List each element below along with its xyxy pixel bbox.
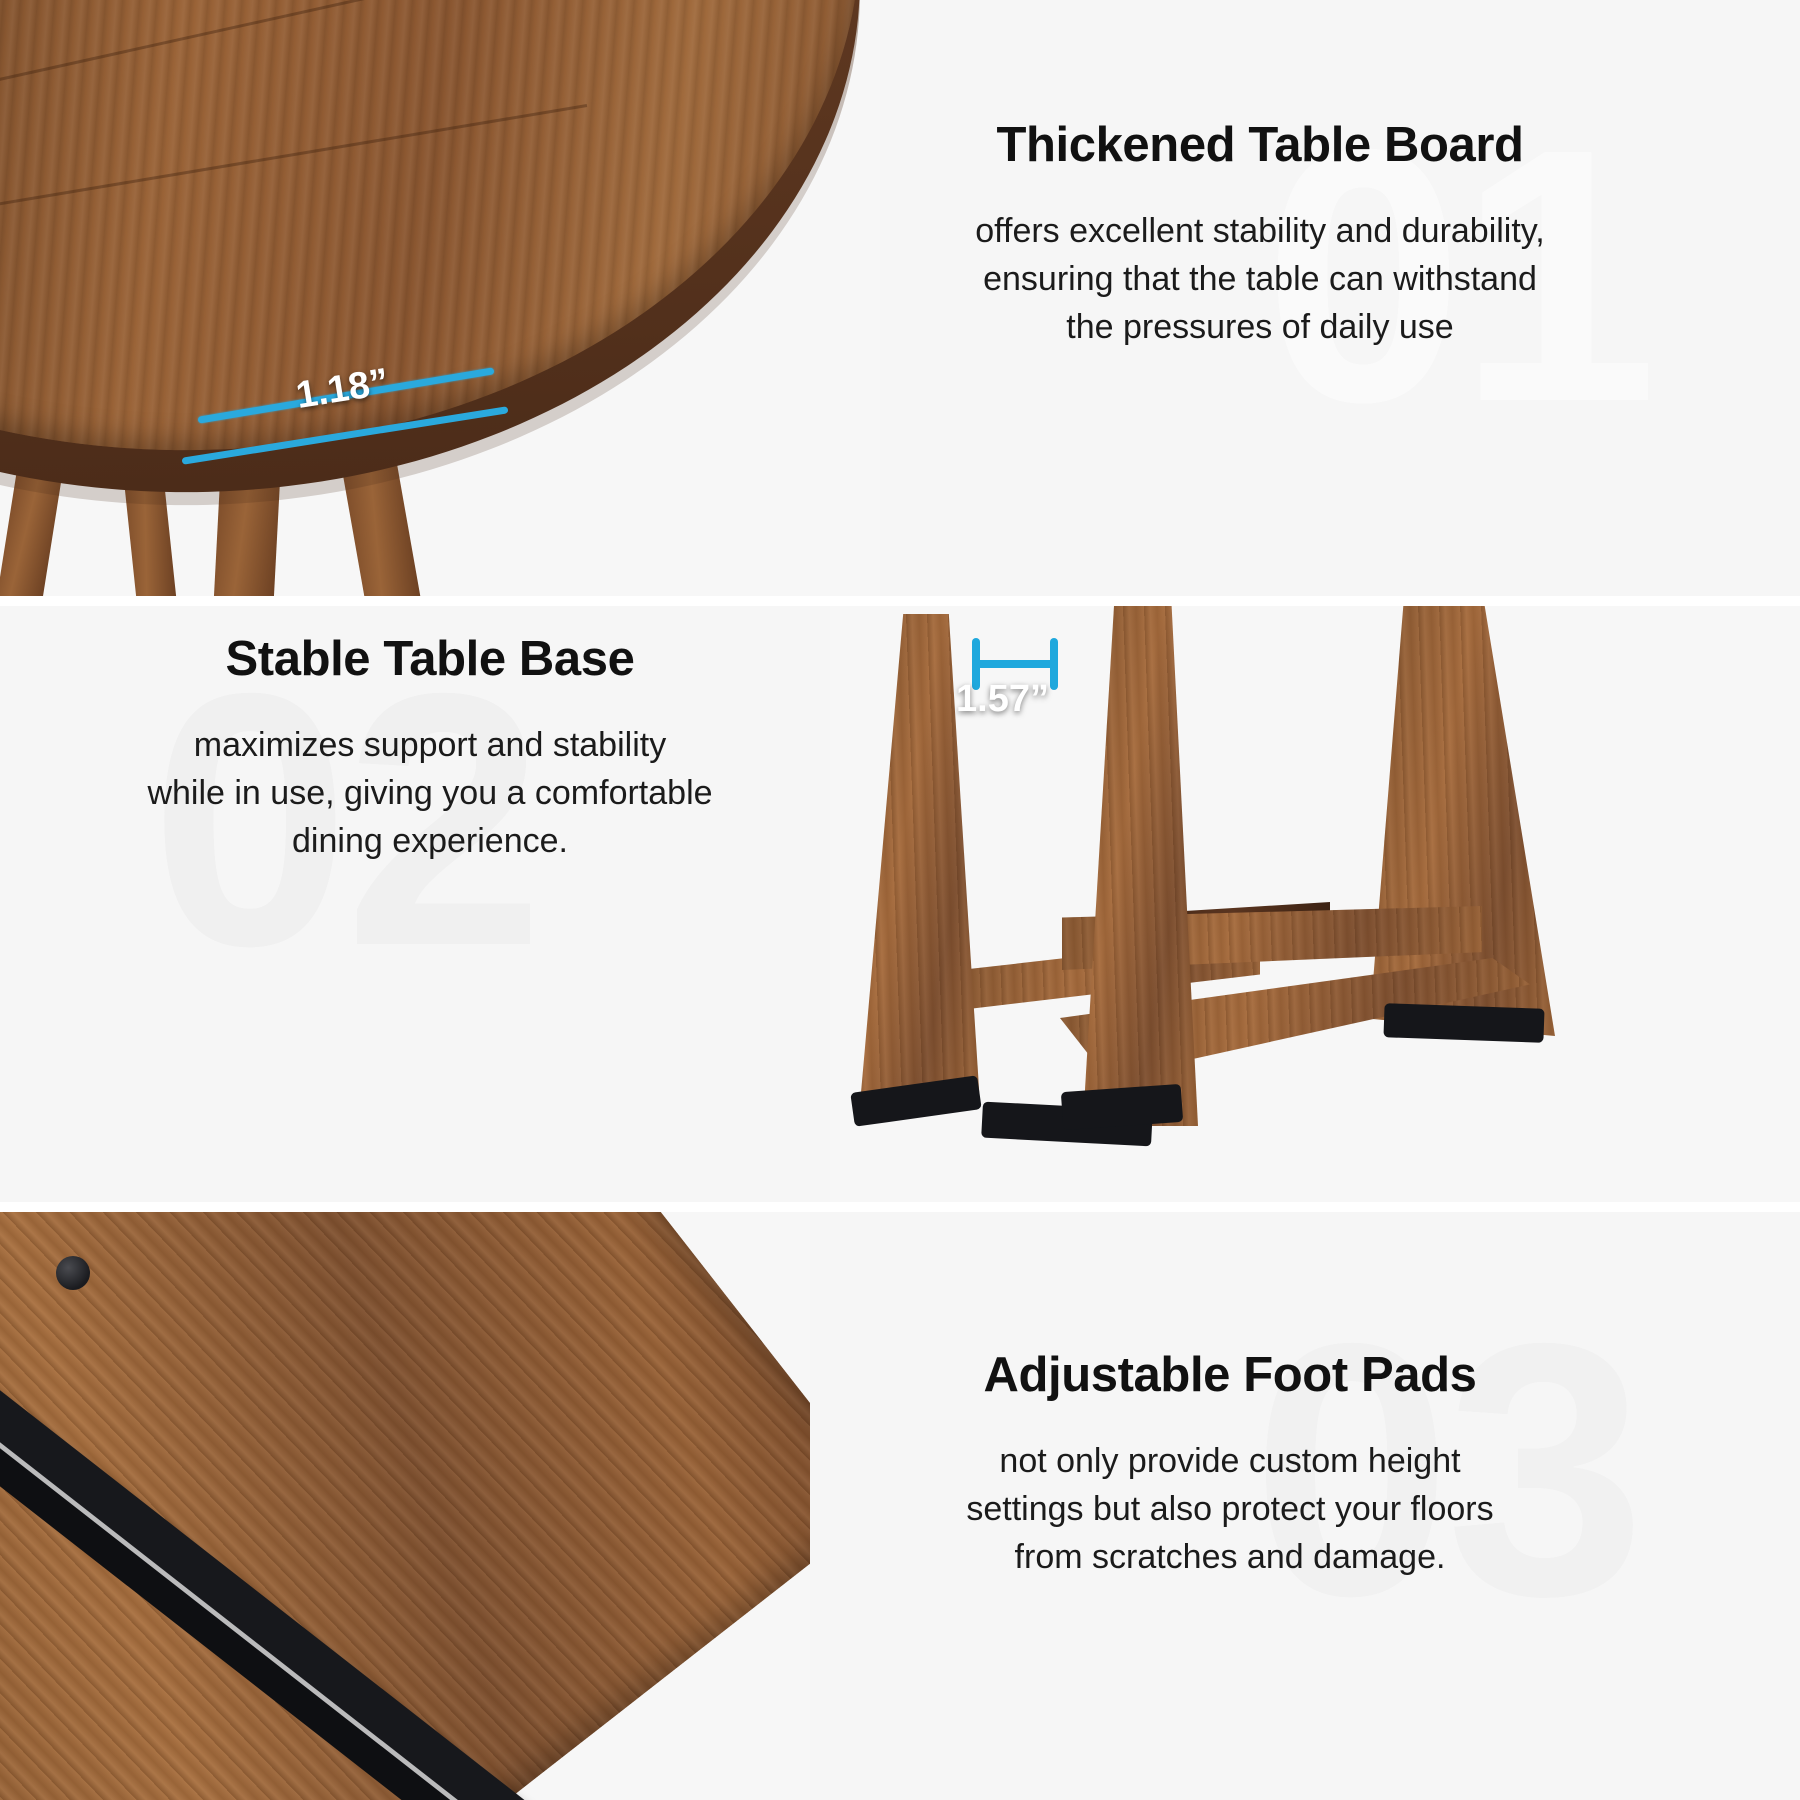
feature-panel-3: 03 Adjustable Foot Pads not only provide… <box>0 1212 1800 1800</box>
base-foot-pad <box>1383 1003 1544 1043</box>
feature-1-body-line: the pressures of daily use <box>930 303 1590 351</box>
panel-divider <box>0 596 1800 606</box>
dimension-label-rail: 1.57” <box>956 678 1049 721</box>
panel-divider <box>0 1202 1800 1212</box>
feature-2-body-line: while in use, giving you a comfortable <box>80 769 780 817</box>
feature-3-title: Adjustable Foot Pads <box>890 1348 1570 1403</box>
feature-panel-1: 1.18” 01 Thickened Table Board offers ex… <box>0 0 1800 596</box>
feature-1-body: offers excellent stability and durabilit… <box>930 207 1590 352</box>
feature-3-body-line: settings but also protect your floors <box>890 1485 1570 1533</box>
feature-2-text: Stable Table Base maximizes support and … <box>80 632 780 866</box>
feature-1-body-line: offers excellent stability and durabilit… <box>930 207 1590 255</box>
feature-panel-2: 02 Stable Table Base maximizes support a… <box>0 606 1800 1202</box>
table-base-photo: 1.57” <box>830 606 1800 1202</box>
feature-2-body-line: dining experience. <box>80 817 780 865</box>
wood-seam <box>0 0 542 49</box>
wood-seam <box>0 104 587 232</box>
feature-3-text: Adjustable Foot Pads not only provide cu… <box>890 1348 1570 1582</box>
feature-2-body-line: maximizes support and stability <box>80 721 780 769</box>
feature-1-text: Thickened Table Board offers excellent s… <box>930 118 1590 352</box>
wood-seam <box>0 0 534 157</box>
feature-3-body: not only provide custom height settings … <box>890 1437 1570 1582</box>
table-top-photo: 1.18” <box>0 0 880 596</box>
frame-screw-icon <box>56 1256 90 1290</box>
feature-3-body-line: not only provide custom height <box>890 1437 1570 1485</box>
base-center-post <box>1078 606 1198 1126</box>
feature-3-body-line: from scratches and damage. <box>890 1533 1570 1581</box>
infographic-sheet: 1.18” 01 Thickened Table Board offers ex… <box>0 0 1800 1800</box>
feature-2-body: maximizes support and stability while in… <box>80 721 780 866</box>
table-underside-photo <box>0 1212 810 1800</box>
feature-1-title: Thickened Table Board <box>930 118 1590 173</box>
feature-1-body-line: ensuring that the table can withstand <box>930 255 1590 303</box>
feature-2-title: Stable Table Base <box>80 632 780 687</box>
